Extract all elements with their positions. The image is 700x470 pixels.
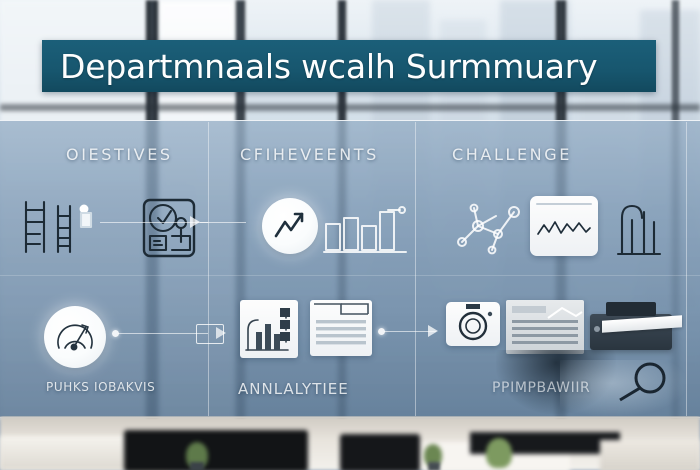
desk-surface — [340, 434, 420, 470]
person-badge-icon — [138, 196, 200, 260]
row-label-analytics: ANNLALYTIEE — [238, 380, 349, 398]
desk-plant — [486, 438, 512, 468]
desk-surface — [124, 430, 308, 470]
column-header-challenges: CHALLENGE — [452, 145, 572, 164]
screenshot-canvas: Departmnaals wcalh Surmmuary OIESTIVES C… — [0, 0, 700, 470]
row-label-challenges: PPIMPBAWIIR — [492, 380, 590, 396]
connector-arrow-icon — [216, 327, 226, 339]
page-title: Departmnaals wcalh Surmmuary — [42, 47, 597, 86]
ladder-chart-icon — [18, 196, 82, 258]
flag-marker-icon — [76, 204, 98, 238]
connector-arrow-icon — [428, 325, 438, 337]
magnifier-icon — [604, 352, 674, 404]
window-transom — [0, 104, 700, 111]
camera-body-icon — [446, 302, 500, 346]
growth-arrow-badge — [262, 198, 318, 254]
column-header-objectives: OIESTIVES — [66, 145, 173, 164]
network-nodes-icon — [452, 198, 538, 256]
column-divider-2 — [415, 122, 416, 416]
printer-device-icon — [590, 296, 686, 358]
panel-top-edge — [0, 120, 700, 121]
connector-arrow-icon — [190, 216, 200, 228]
title-banner: Departmnaals wcalh Surmmuary — [42, 40, 656, 92]
bar-chart-document-icon — [240, 300, 298, 358]
bar-chart-outline-icon — [322, 206, 408, 254]
gauge-meter-badge — [44, 306, 106, 368]
document-bars-icon — [240, 300, 298, 358]
column-divider-1 — [208, 122, 209, 416]
row-label-objectives: PUHKS IOBAKVIS — [46, 380, 155, 394]
sparkline-icon — [536, 216, 592, 240]
paper-fold-icon — [546, 306, 584, 322]
speedometer-icon — [53, 316, 97, 358]
connector-line — [118, 333, 208, 334]
document-lines-icon — [310, 300, 372, 356]
line-chart-card-icon — [530, 196, 598, 256]
office-foreground — [0, 416, 700, 470]
column-header-achievements: CFIHEVEENTS — [240, 145, 379, 164]
plant-pot — [190, 462, 204, 470]
connector-line — [200, 222, 246, 223]
desk-surface — [600, 440, 700, 470]
camera-icon — [446, 302, 500, 346]
text-document-icon — [310, 300, 372, 356]
plant-pot — [428, 462, 440, 470]
bar-group-icon — [614, 198, 666, 256]
lined-report-icon — [506, 300, 584, 354]
trend-up-icon — [272, 210, 308, 242]
panel-row-divider — [0, 275, 700, 276]
